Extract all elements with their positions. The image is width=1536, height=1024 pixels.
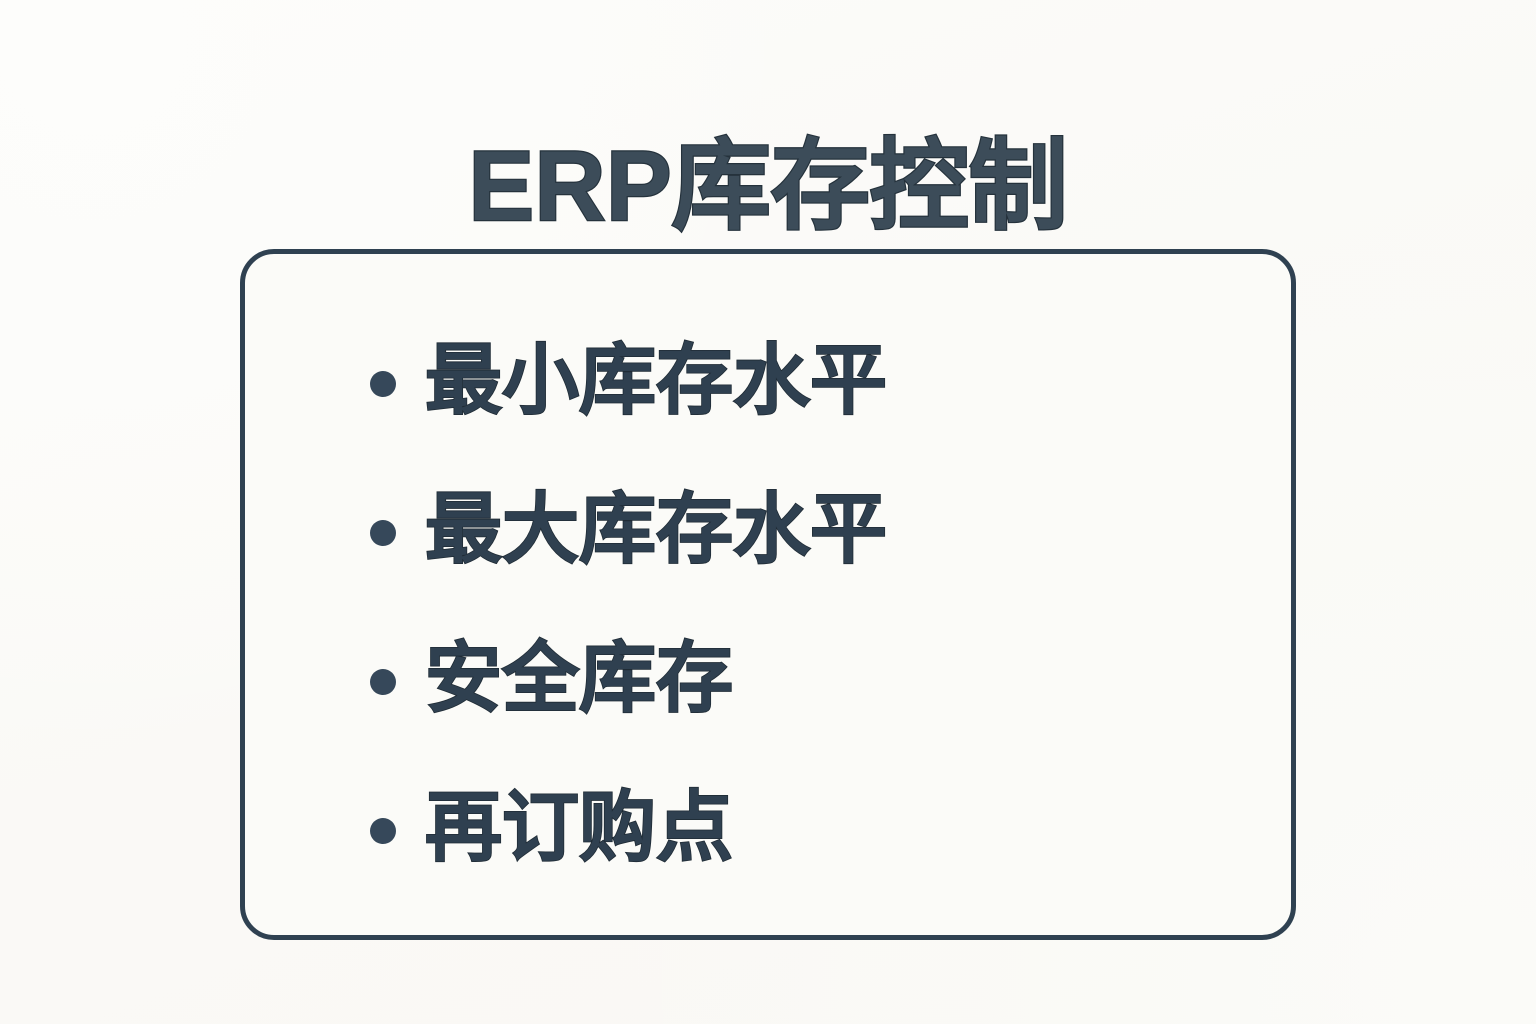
- bullet-circle-icon: [370, 669, 396, 695]
- bullet-circle-icon: [370, 371, 396, 397]
- bullet-list: 最小库存水平 最大库存水平 安全库存 再订购点: [370, 307, 1251, 903]
- list-item-label: 安全库存: [425, 639, 733, 720]
- list-item-label: 最小库存水平: [425, 341, 887, 422]
- bullet-circle-icon: [370, 520, 396, 546]
- list-item: 安全库存: [370, 605, 1251, 754]
- list-item-label: 最大库存水平: [425, 490, 887, 571]
- bullet-circle-icon: [370, 818, 396, 844]
- content-card: 最小库存水平 最大库存水平 安全库存 再订购点: [240, 249, 1296, 940]
- list-item: 最小库存水平: [370, 307, 1251, 456]
- list-item-label: 再订购点: [425, 788, 733, 869]
- page-title: ERP库存控制: [0, 128, 1536, 245]
- list-item: 再订购点: [370, 754, 1251, 903]
- list-item: 最大库存水平: [370, 456, 1251, 605]
- slide-canvas: ERP库存控制 最小库存水平 最大库存水平 安全库存 再订购点: [0, 0, 1536, 1024]
